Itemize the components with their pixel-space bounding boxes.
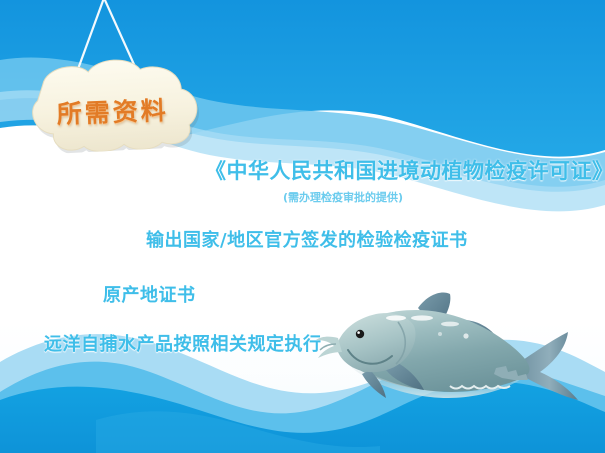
body-highlight-3 (441, 322, 459, 327)
requirement-line-1: 《中华人民共和国进境动植物检疫许可证》 (205, 155, 605, 185)
requirement-line-3: 原产地证书 (103, 281, 196, 307)
fish-mouth (316, 337, 342, 358)
tuna-fish-illustration (300, 288, 605, 418)
fish-eye-highlight (357, 331, 360, 334)
fish-eye (356, 330, 364, 338)
requirement-line-2: 输出国家/地区官方签发的检验检疫证书 (146, 226, 468, 252)
poster-canvas: 所需资料 《中华人民共和国进境动植物检疫许可证》 (需办理检疫审批的提供) 输出… (0, 0, 605, 453)
body-highlight-2 (411, 315, 433, 320)
requirement-line-1-note: (需办理检疫审批的提供) (283, 189, 403, 205)
body-highlight-1 (386, 315, 406, 320)
requirement-line-4: 远洋自捕水产品按照相关规定执行 (44, 330, 322, 356)
body-highlight-5 (438, 332, 442, 336)
body-highlight-4 (463, 333, 468, 338)
